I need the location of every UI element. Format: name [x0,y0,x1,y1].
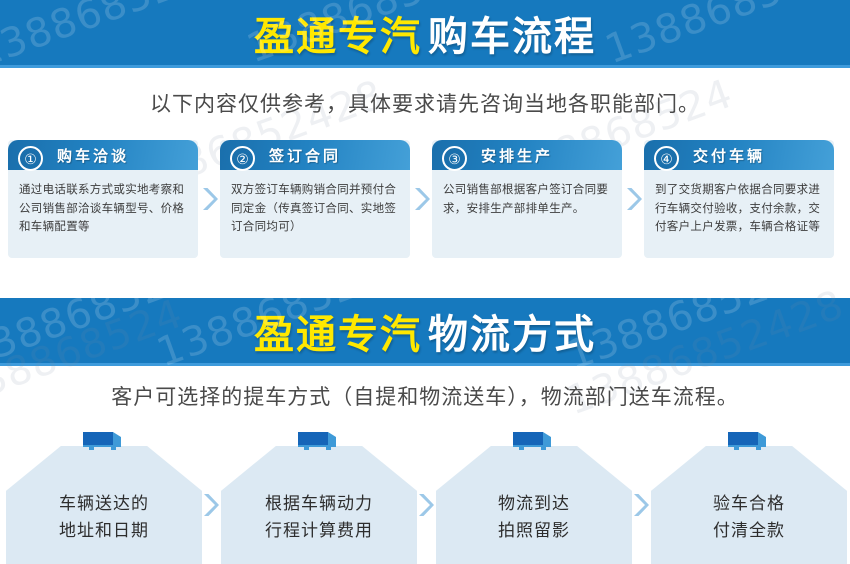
logistics-subtitle: 客户可选择的提车方式（自提和物流送车），物流部门送车流程。 [0,381,850,411]
step-body-text: 公司销售部根据客户签订合同要求，安排生产部排单生产。 [432,170,622,217]
logistics-card-line1: 根据车辆动力 [221,491,417,517]
step-number-badge: ② [230,146,255,171]
logistics-card-line2: 行程计算费用 [221,518,417,544]
step-number-badge: ③ [442,146,467,171]
banner-title-text: 购车流程 [428,14,596,60]
step-card-3[interactable]: ③ 安排生产 公司销售部根据客户签订合同要求，安排生产部排单生产。 [432,140,622,258]
logistics-card-1[interactable]: 车辆送达的 地址和日期 [6,428,199,564]
banner-brand-text: 盈通专汽 [254,312,422,358]
logistics-card-text: 根据车辆动力 行程计算费用 [221,491,417,544]
step-body-text: 通过电话联系方式或实地考察和公司销售部洽谈车辆型号、价格和车辆配置等 [8,170,198,236]
step-number-badge: ① [18,146,43,171]
chevron-right-icon [629,446,651,564]
step-card-header: ② 签订合同 [220,140,410,170]
purchase-subtitle: 以下内容仅供参考，具体要求请先咨询当地各职能部门。 [0,88,850,118]
logistics-card-2[interactable]: 根据车辆动力 行程计算费用 [221,428,414,564]
logistics-card-line2: 地址和日期 [6,518,202,544]
step-title: 交付车辆 [693,145,765,166]
step-title: 签订合同 [269,145,341,166]
step-title: 安排生产 [481,145,553,166]
step-card-2[interactable]: ② 签订合同 双方签订车辆购销合同并预付合同定金（传真签订合同、实地签订合同均可… [220,140,410,258]
purchase-process-banner: 盈通专汽购车流程 [0,0,850,68]
logistics-banner: 盈通专汽物流方式 [0,298,850,366]
banner-title: 盈通专汽物流方式 [254,302,596,360]
banner-title-text: 物流方式 [428,312,596,358]
logistics-steps-row: 车辆送达的 地址和日期 根据车辆动力 行程计算费用 [6,428,844,564]
logistics-card-4[interactable]: 验车合格 付清全款 [651,428,844,564]
step-body-text: 到了交货期客户依据合同要求进行车辆交付验收，支付余款，交付客户上户发票，车辆合格… [644,170,834,236]
truck-icon [292,428,344,452]
logistics-card-line1: 车辆送达的 [6,491,202,517]
step-number-badge: ④ [654,146,679,171]
logistics-card-3[interactable]: 物流到达 拍照留影 [436,428,629,564]
chevron-right-icon [410,140,432,258]
chevron-right-icon [198,140,220,258]
step-card-header: ④ 交付车辆 [644,140,834,170]
banner-title: 盈通专汽购车流程 [254,4,596,62]
chevron-right-icon [414,446,436,564]
logistics-card-line2: 拍照留影 [436,518,632,544]
step-card-1[interactable]: ① 购车洽谈 通过电话联系方式或实地考察和公司销售部洽谈车辆型号、价格和车辆配置… [8,140,198,258]
logistics-card-line1: 物流到达 [436,491,632,517]
purchase-steps-row: ① 购车洽谈 通过电话联系方式或实地考察和公司销售部洽谈车辆型号、价格和车辆配置… [8,140,842,262]
logistics-card-text: 车辆送达的 地址和日期 [6,491,202,544]
truck-icon [722,428,774,452]
step-card-header: ① 购车洽谈 [8,140,198,170]
logistics-card-text: 验车合格 付清全款 [651,491,847,544]
truck-icon [507,428,559,452]
logistics-card-line2: 付清全款 [651,518,847,544]
chevron-right-icon [199,446,221,564]
logistics-card-text: 物流到达 拍照留影 [436,491,632,544]
banner-brand-text: 盈通专汽 [254,14,422,60]
step-body-text: 双方签订车辆购销合同并预付合同定金（传真签订合同、实地签订合同均可） [220,170,410,236]
step-card-header: ③ 安排生产 [432,140,622,170]
logistics-card-line1: 验车合格 [651,491,847,517]
truck-icon [77,428,129,452]
chevron-right-icon [622,140,644,258]
step-title: 购车洽谈 [57,145,129,166]
step-card-4[interactable]: ④ 交付车辆 到了交货期客户依据合同要求进行车辆交付验收，支付余款，交付客户上户… [644,140,834,258]
